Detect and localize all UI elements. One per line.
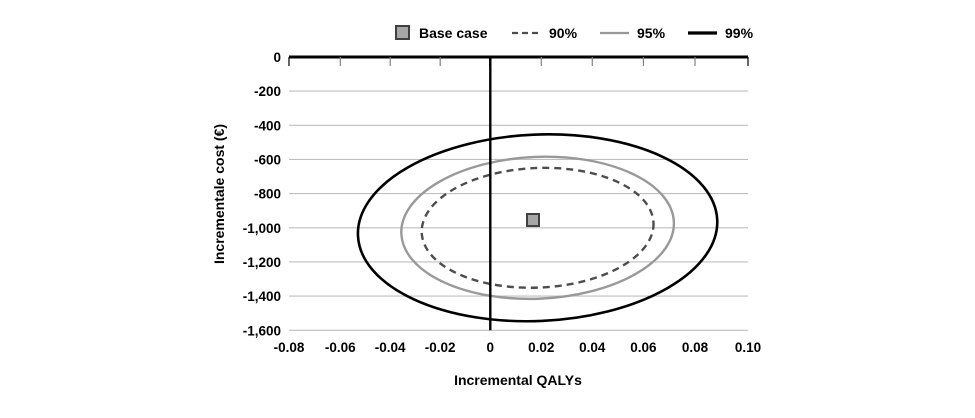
x-tick-label--0.04: -0.04: [375, 340, 406, 355]
x-axis-tick-labels: -0.08 -0.06 -0.04 -0.02 0 0.02 0.04 0.06…: [274, 340, 762, 355]
legend-ci99-label: 99%: [725, 25, 754, 41]
legend-ci90-label: 90%: [549, 25, 578, 41]
x-axis-title: Incremental QALYs: [454, 372, 582, 388]
y-tick-label--600: -600: [254, 152, 281, 167]
y-tick-label--1000: -1,000: [243, 221, 281, 236]
x-tick-label-0: 0: [487, 340, 495, 355]
y-axis-tick-labels: 0 -200 -400 -600 -800 -1,000 -1,200 -1,4…: [243, 50, 281, 338]
y-axis-title: Incrementale cost (€): [211, 124, 227, 264]
x-tick-label--0.02: -0.02: [425, 340, 456, 355]
x-tick-label-0.02: 0.02: [528, 340, 554, 355]
chart-canvas: Base case 90% 95% 99%: [0, 0, 975, 418]
x-tick-label--0.08: -0.08: [274, 340, 305, 355]
y-tick-label--1200: -1,200: [243, 255, 281, 270]
cost-effectiveness-plane-chart: Base case 90% 95% 99%: [0, 0, 975, 418]
legend-base-case-label: Base case: [419, 25, 488, 41]
x-tick-label-0.04: 0.04: [579, 340, 606, 355]
base-case-marker: [527, 214, 539, 226]
y-tick-label-0: 0: [273, 50, 281, 65]
horizontal-gridlines: [289, 91, 748, 330]
x-tick-label--0.06: -0.06: [325, 340, 356, 355]
x-tick-label-0.08: 0.08: [682, 340, 709, 355]
x-tick-label-0.10: 0.10: [735, 340, 761, 355]
legend-ci95-label: 95%: [637, 25, 666, 41]
legend-base-case-swatch: [396, 26, 409, 39]
chart-legend: Base case 90% 95% 99%: [396, 25, 754, 41]
x-tick-label-0.06: 0.06: [630, 340, 657, 355]
y-tick-label--1600: -1,600: [243, 323, 281, 338]
y-tick-label--1400: -1,400: [243, 289, 281, 304]
y-tick-label--400: -400: [254, 118, 281, 133]
y-tick-label--800: -800: [254, 187, 281, 202]
y-tick-label--200: -200: [254, 84, 281, 99]
